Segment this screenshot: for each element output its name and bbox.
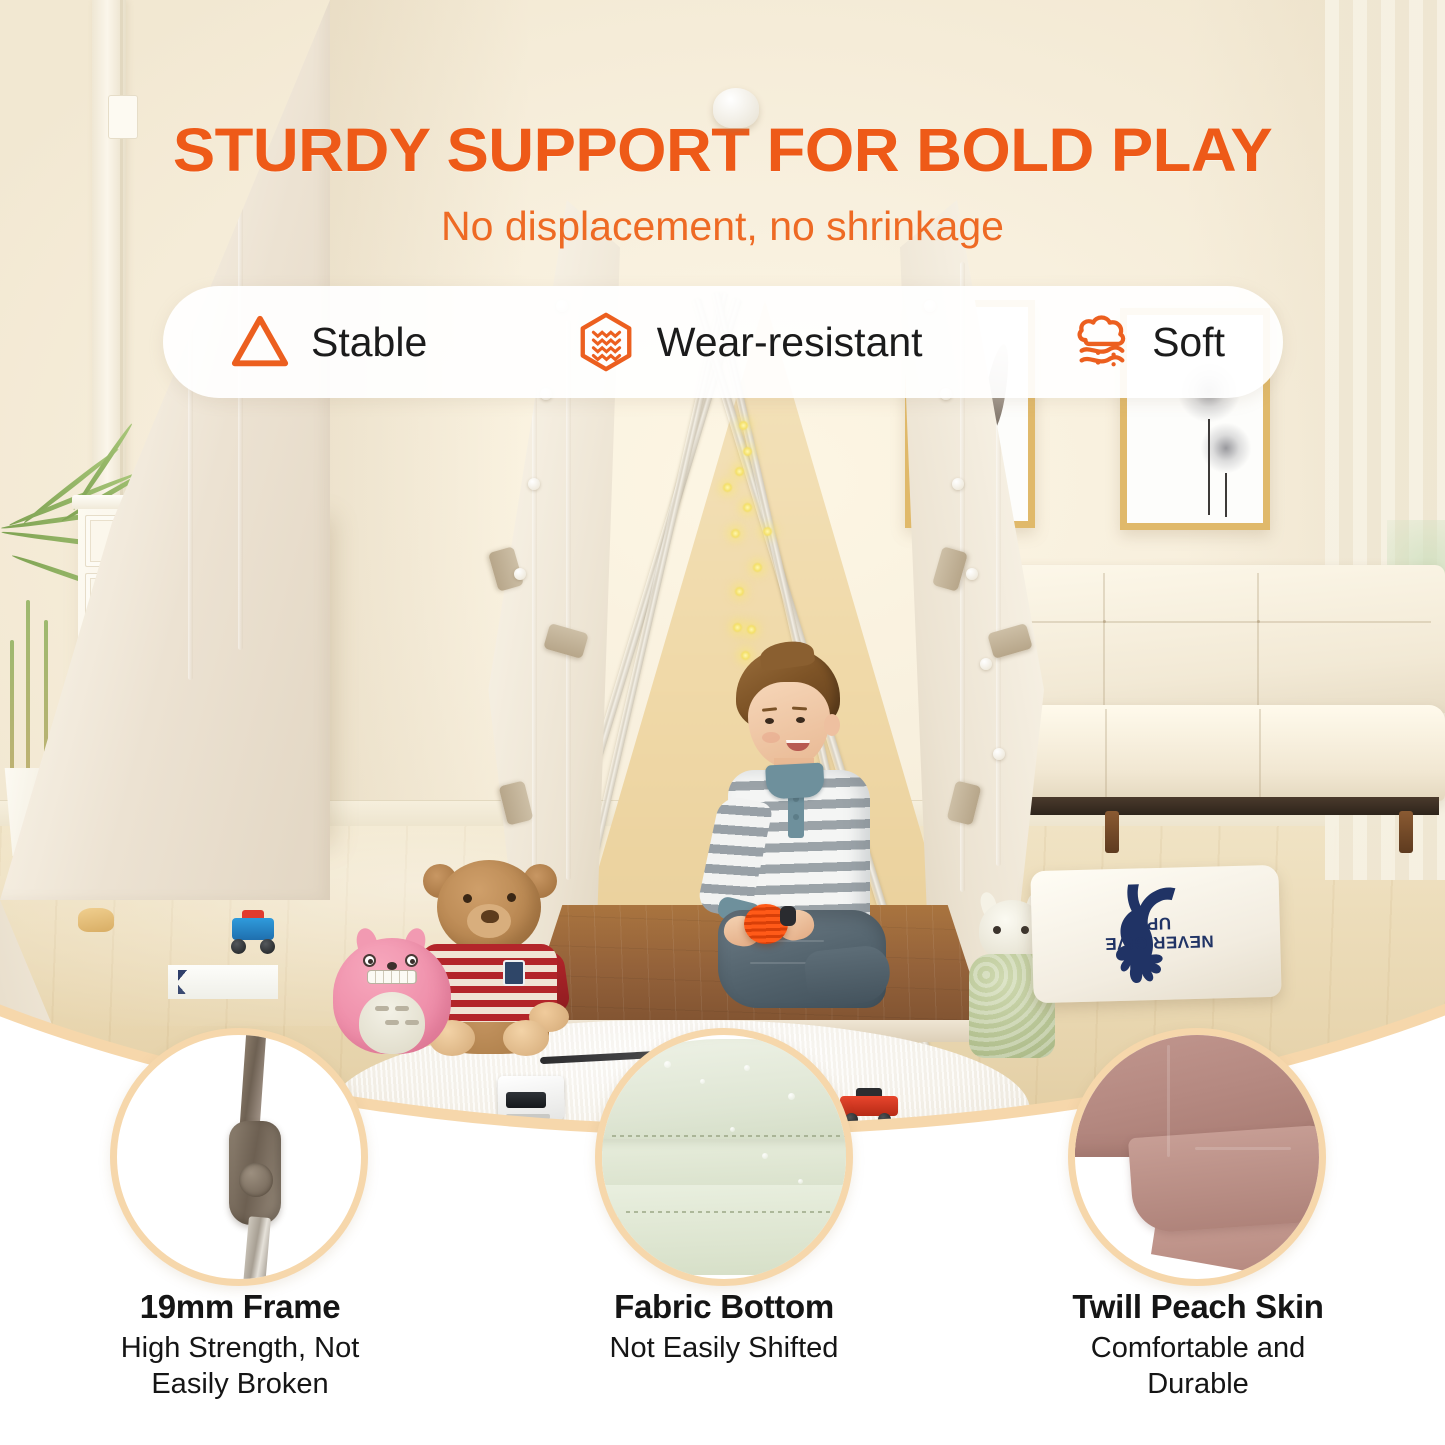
feature-badge-bar: Stable Wear-resistant xyxy=(163,286,1283,398)
feature-badge-soft[interactable]: Soft xyxy=(1070,311,1225,373)
bear-eye xyxy=(463,894,472,903)
totoro-belly xyxy=(359,992,425,1054)
flap-fold xyxy=(566,320,571,880)
boy-cheek xyxy=(762,732,780,743)
caption-subtitle-fabric-bottom: Not Easily Shifted xyxy=(568,1330,880,1366)
caption-fabric-bottom: Fabric Bottom Not Easily Shifted xyxy=(568,1288,880,1366)
water-droplet xyxy=(798,1179,803,1184)
bear-nose xyxy=(481,910,499,923)
caption-subtitle-frame: High Strength, Not Easily Broken xyxy=(85,1330,395,1402)
boy-eyebrow xyxy=(762,707,777,712)
triangle-stable-icon xyxy=(229,311,291,373)
light-bulb xyxy=(732,622,743,633)
bear-eye xyxy=(507,893,516,902)
light-bulb xyxy=(734,466,745,477)
caption-peach-skin: Twill Peach Skin Comfortable and Durable xyxy=(1040,1288,1356,1402)
caption-title-peach-skin: Twill Peach Skin xyxy=(1040,1288,1356,1326)
light-bulb xyxy=(762,526,773,537)
light-bulb xyxy=(734,586,745,597)
feature-label-stable: Stable xyxy=(311,319,427,366)
truck-window xyxy=(506,1092,546,1108)
fairy-light-bulb xyxy=(993,748,1005,760)
feature-label-wear-resistant: Wear-resistant xyxy=(657,319,923,366)
fairy-light-bulb xyxy=(528,478,540,490)
light-bulb xyxy=(730,528,741,539)
cloud-soft-icon xyxy=(1070,311,1132,373)
caption-title-fabric-bottom: Fabric Bottom xyxy=(568,1288,880,1326)
truck-bumper xyxy=(506,1114,550,1119)
fairy-light-bulb xyxy=(966,568,978,580)
detail-fabric-seam xyxy=(612,1135,853,1137)
totoro-pupil xyxy=(410,959,415,964)
truck-cab xyxy=(498,1076,564,1120)
boy-eyebrow xyxy=(792,706,807,710)
boy-eye xyxy=(796,717,805,723)
detail-fabric-seam xyxy=(626,1211,836,1213)
fabric-crease xyxy=(1167,1045,1170,1157)
peach-skin-fabric-detail xyxy=(1068,1028,1326,1286)
feature-badge-wear-resistant[interactable]: Wear-resistant xyxy=(575,311,923,373)
water-droplet xyxy=(730,1127,735,1132)
detail-rose-fabric-fold xyxy=(1128,1124,1326,1234)
light-bulb xyxy=(742,502,753,513)
water-droplet xyxy=(700,1079,705,1084)
totoro-pupil xyxy=(368,959,373,964)
page-title: STURDY SUPPORT FOR BOLD PLAY xyxy=(0,118,1445,182)
detail-pole-upper xyxy=(239,1028,266,1134)
detail-connector-button xyxy=(239,1163,273,1197)
totoro-chevron xyxy=(385,1020,399,1025)
light-bulb xyxy=(722,482,733,493)
light-bulb xyxy=(742,446,753,457)
flap-fold xyxy=(996,326,1001,866)
water-droplet xyxy=(762,1153,768,1159)
fairy-light-bulb xyxy=(514,568,526,580)
red-toy-car[interactable] xyxy=(840,1088,902,1126)
light-bulb xyxy=(752,562,763,573)
totoro-eye xyxy=(363,954,376,967)
pillow-text: NEVER GIVE UP xyxy=(1097,912,1220,953)
tent-apex-finial xyxy=(713,88,759,128)
light-bulb xyxy=(738,420,749,431)
detail-fabric-bottom-layer xyxy=(596,1185,853,1275)
feature-badge-stable[interactable]: Stable xyxy=(229,311,427,373)
fairy-light-bulb xyxy=(980,658,992,670)
white-toy-truck[interactable] xyxy=(498,1070,584,1128)
wooden-block[interactable] xyxy=(78,908,114,932)
car-wheel xyxy=(878,1113,891,1126)
caption-frame: 19mm Frame High Strength, Not Easily Bro… xyxy=(85,1288,395,1402)
shield-wear-resistant-icon xyxy=(575,311,637,373)
bear-foot xyxy=(503,1020,549,1056)
product-feature-panel: CREATE WONDERFUL HOMELIFE 1000 xyxy=(0,0,1445,1445)
totoro-plush xyxy=(333,928,451,1056)
totoro-body xyxy=(333,938,451,1054)
bear-sweater-crest xyxy=(503,960,525,986)
totoro-nose xyxy=(387,962,397,970)
pennant-flag xyxy=(168,965,278,999)
light-bulb xyxy=(746,624,757,635)
never-give-up-pillow: NEVER GIVE UP xyxy=(1030,865,1281,1003)
water-droplet xyxy=(664,1061,671,1068)
feature-label-soft: Soft xyxy=(1152,319,1225,366)
car-wheel xyxy=(260,939,275,954)
fairy-light-bulb xyxy=(952,478,964,490)
toy-handle xyxy=(780,906,796,926)
shirt-collar xyxy=(765,763,825,800)
caption-title-frame: 19mm Frame xyxy=(85,1288,395,1326)
caption-subtitle-peach-skin: Comfortable and Durable xyxy=(1040,1330,1356,1402)
totoro-chevron xyxy=(395,1006,409,1011)
flag-graphic xyxy=(178,970,256,994)
pole-connector-detail xyxy=(110,1028,368,1286)
boy-face xyxy=(748,682,830,768)
totoro-teeth xyxy=(367,970,417,984)
water-droplet xyxy=(788,1093,795,1100)
water-droplet xyxy=(744,1065,750,1071)
blue-toy-car[interactable] xyxy=(228,910,278,954)
car-wheel xyxy=(231,939,246,954)
llama-eye xyxy=(993,926,1001,934)
detail-pole-lower xyxy=(241,1216,271,1286)
llama-eye xyxy=(1021,926,1029,934)
totoro-eye xyxy=(405,954,418,967)
page-subtitle: No displacement, no shrinkage xyxy=(0,203,1445,249)
shirt-button xyxy=(793,814,799,820)
fabric-bottom-detail xyxy=(595,1028,853,1286)
totoro-chevron xyxy=(405,1020,419,1025)
totoro-chevron xyxy=(375,1006,389,1011)
boy-eye xyxy=(765,718,774,724)
boy-playing: OL BLUE xyxy=(700,648,910,1008)
car-body xyxy=(232,918,274,940)
fabric-crease xyxy=(1195,1147,1291,1150)
boy-ear xyxy=(824,714,840,736)
